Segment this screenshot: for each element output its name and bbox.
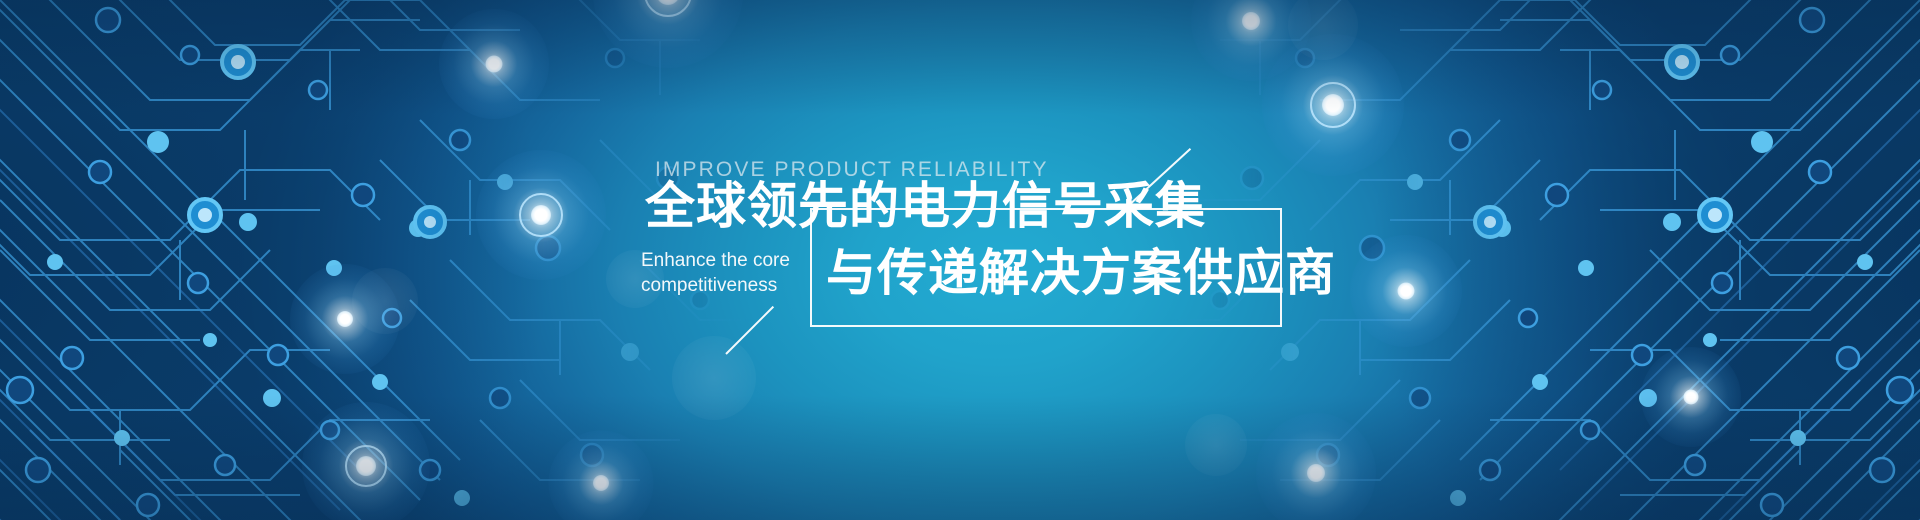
hero-banner: IMPROVE PRODUCT RELIABILITY 全球领先的电力信号采集 … (0, 0, 1920, 520)
banner-content: IMPROVE PRODUCT RELIABILITY 全球领先的电力信号采集 … (0, 0, 1920, 520)
banner-subtitle-english: Enhance the core competitiveness (641, 248, 806, 298)
banner-headline-line2: 与传递解决方案供应商 (826, 243, 1336, 303)
banner-headline-line1: 全球领先的电力信号采集 (645, 176, 1206, 236)
diagonal-accent-bottom-left-icon (725, 306, 774, 355)
